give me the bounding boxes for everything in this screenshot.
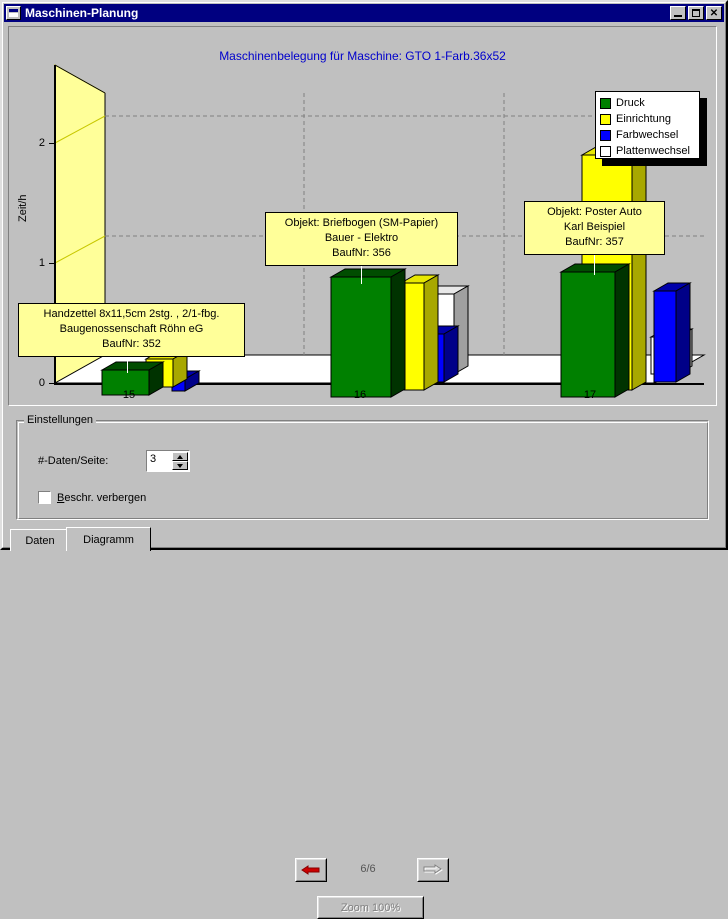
prev-page-button-face: [296, 859, 326, 881]
legend-label-einrichtung: Einrichtung: [616, 113, 671, 125]
legend-swatch-druck: [600, 98, 611, 109]
hide-description-rest: eschr. verbergen: [64, 492, 146, 504]
minimize-button[interactable]: [670, 6, 686, 20]
callout-352[interactable]: Handzettel 8x11,5cm 2stg. , 2/1-fbg. Bau…: [18, 303, 245, 357]
tab-daten-label: Daten: [25, 535, 54, 547]
arrow-right-icon: [423, 864, 443, 876]
window-controls: ✕: [668, 6, 722, 20]
per-page-stepper[interactable]: 3: [146, 450, 190, 472]
callout-357[interactable]: Objekt: Poster Auto Karl Beispiel BaufNr…: [524, 201, 665, 255]
next-page-button-face: [418, 859, 448, 881]
bar-17-druck: [561, 264, 629, 397]
callout-leader-356: [361, 264, 362, 284]
callout-357-line-2: Karl Beispiel: [531, 220, 658, 235]
tab-diagramm[interactable]: Diagramm: [66, 527, 151, 551]
per-page-value[interactable]: 3: [150, 453, 156, 465]
title-bar[interactable]: Maschinen-Planung ✕: [4, 4, 724, 22]
tab-diagramm-label: Diagramm: [83, 534, 134, 546]
legend-swatch-einrichtung: [600, 114, 611, 125]
bar-16-druck: [331, 269, 405, 397]
x-tick-label-17: 17: [570, 389, 610, 401]
callout-356-line-1: Objekt: Briefbogen (SM-Papier): [272, 216, 451, 231]
zoom-button-label: Zoom 100%: [318, 897, 423, 918]
zoom-button: Zoom 100%: [317, 896, 424, 919]
callout-356-line-2: Bauer - Elektro: [272, 231, 451, 246]
close-button[interactable]: ✕: [706, 6, 722, 20]
maximize-button[interactable]: [688, 6, 704, 20]
chart-legend[interactable]: Druck Einrichtung Farbwechsel Plattenwec…: [595, 91, 700, 159]
callout-352-line-1: Handzettel 8x11,5cm 2stg. , 2/1-fbg.: [25, 307, 238, 322]
legend-label-plattenwechsel: Plattenwechsel: [616, 145, 690, 157]
x-tick-label-15: 15: [109, 389, 149, 401]
bar-16-einrichtung: [401, 275, 438, 390]
legend-label-farbwechsel: Farbwechsel: [616, 129, 678, 141]
arrow-left-icon: [301, 864, 321, 876]
hide-description-label: Beschr. verbergen: [57, 492, 146, 504]
callout-352-line-3: BaufNr: 352: [25, 337, 238, 352]
hide-description-checkbox-row[interactable]: Beschr. verbergen: [38, 491, 146, 504]
callout-356-line-3: BaufNr: 356: [272, 246, 451, 261]
chart-plot-area: 0 1 2 Zeit/h: [9, 27, 717, 406]
application-window: Maschinen-Planung ✕ Maschinenbelegung fü…: [0, 0, 728, 550]
bar-17-farbwechsel: [654, 283, 690, 382]
window-menu-icon[interactable]: [6, 6, 21, 20]
chart-panel[interactable]: Maschinenbelegung für Maschine: GTO 1-Fa…: [8, 26, 717, 406]
legend-item-plattenwechsel: Plattenwechsel: [600, 143, 699, 159]
window-title: Maschinen-Planung: [25, 6, 138, 20]
client-area: Maschinenbelegung für Maschine: GTO 1-Fa…: [8, 26, 720, 542]
hide-description-checkbox[interactable]: [38, 491, 51, 504]
legend-item-farbwechsel: Farbwechsel: [600, 127, 699, 143]
legend-label-druck: Druck: [616, 97, 645, 109]
callout-356[interactable]: Objekt: Briefbogen (SM-Papier) Bauer - E…: [265, 212, 458, 266]
callout-357-line-3: BaufNr: 357: [531, 235, 658, 250]
legend-swatch-farbwechsel: [600, 130, 611, 141]
settings-area: Einstellungen #-Daten/Seite: 3 Beschr. v…: [8, 414, 717, 526]
callout-leader-352: [127, 357, 128, 373]
x-tick-label-16: 16: [340, 389, 380, 401]
legend-item-einrichtung: Einrichtung: [600, 111, 699, 127]
settings-group-box-inner: [18, 422, 708, 519]
callout-357-line-1: Objekt: Poster Auto: [531, 205, 658, 220]
next-page-button: [417, 858, 449, 882]
page-indicator: 6/6: [338, 863, 398, 875]
callout-352-line-2: Baugenossenschaft Röhn eG: [25, 322, 238, 337]
triangle-down-icon[interactable]: [172, 461, 188, 470]
per-page-label: #-Daten/Seite:: [38, 455, 108, 467]
tab-daten[interactable]: Daten: [10, 529, 70, 551]
triangle-up-icon[interactable]: [172, 452, 188, 461]
per-page-spin-buttons: [172, 452, 188, 470]
legend-swatch-plattenwechsel: [600, 146, 611, 157]
settings-group-title: Einstellungen: [24, 414, 96, 426]
legend-item-druck: Druck: [600, 95, 699, 111]
settings-group-box: [16, 420, 709, 520]
prev-page-button[interactable]: [295, 858, 327, 882]
